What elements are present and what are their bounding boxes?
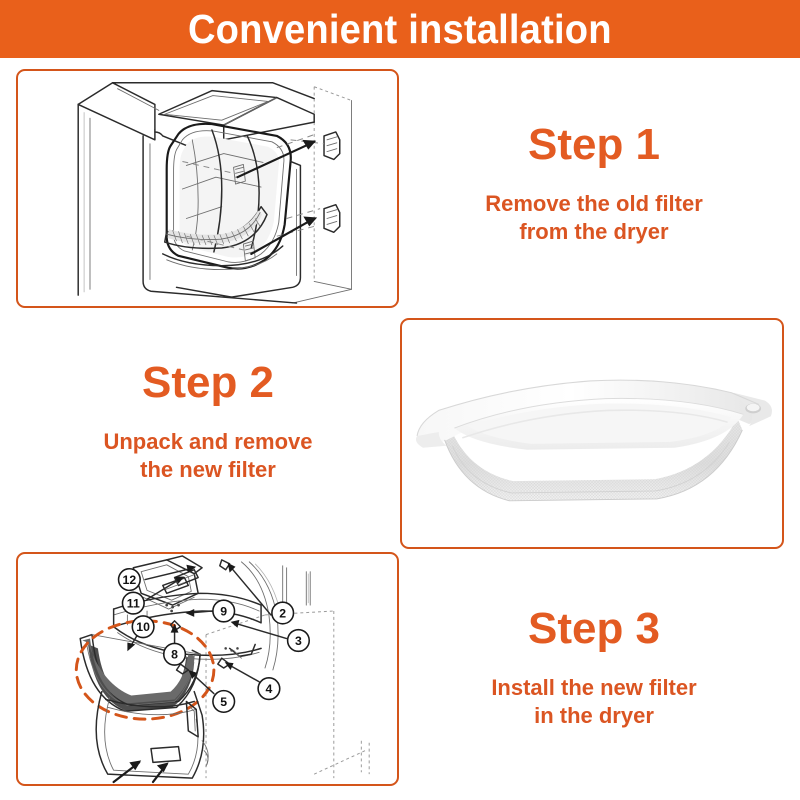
filter-clip-lower [324,205,340,233]
callout-9-label: 9 [220,604,227,618]
callout-11-label: 11 [127,597,140,611]
figure-panel-step-1 [16,69,399,308]
callout-4-label: 4 [266,682,273,696]
step-2-text-block: Step 2 Unpack and remove the new filter [18,360,398,485]
callout-5: 5 [213,691,235,713]
figure-panel-step-3: 12 11 10 9 8 2 3 4 [16,552,399,786]
header-banner: Convenient installation [0,0,800,58]
new-lint-filter-product-photo [402,320,782,547]
callout-9: 9 [213,600,235,622]
callout-8-label: 8 [171,648,178,662]
step-2-title: Step 2 [18,360,398,406]
step-1-description: Remove the old filter from the dryer [404,190,784,246]
callout-12: 12 [119,569,141,591]
callout-5-label: 5 [220,695,227,709]
filter-clip-upper [324,132,340,160]
step-1-description-line-2: from the dryer [404,218,784,246]
callout-8: 8 [164,643,186,665]
step-1-title: Step 1 [404,122,784,168]
step-3-description: Install the new filter in the dryer [404,674,784,730]
callout-10-label: 10 [136,620,150,634]
callout-4: 4 [258,678,280,700]
callout-3-label: 3 [295,634,302,648]
step-2-description-line-1: Unpack and remove [18,428,398,456]
callout-2: 2 [272,602,294,624]
step-1-text-block: Step 1 Remove the old filter from the dr… [404,122,784,247]
step-3-title: Step 3 [404,606,784,652]
figure-panel-step-2 [400,318,784,549]
dryer-door-open-diagram [18,71,397,306]
callout-12-label: 12 [123,573,137,587]
step-3-text-block: Step 3 Install the new filter in the dry… [404,606,784,731]
callout-11: 11 [122,592,144,614]
callout-2-label: 2 [279,606,286,620]
step-2-description-line-2: the new filter [18,456,398,484]
dryer-exploded-parts-diagram: 12 11 10 9 8 2 3 4 [18,554,397,784]
step-1-description-line-1: Remove the old filter [404,190,784,218]
step-3-description-line-2: in the dryer [404,702,784,730]
step-2-description: Unpack and remove the new filter [18,428,398,484]
callout-3: 3 [288,630,310,652]
page-title: Convenient installation [188,9,612,50]
callout-10: 10 [132,616,154,638]
step-3-description-line-1: Install the new filter [404,674,784,702]
